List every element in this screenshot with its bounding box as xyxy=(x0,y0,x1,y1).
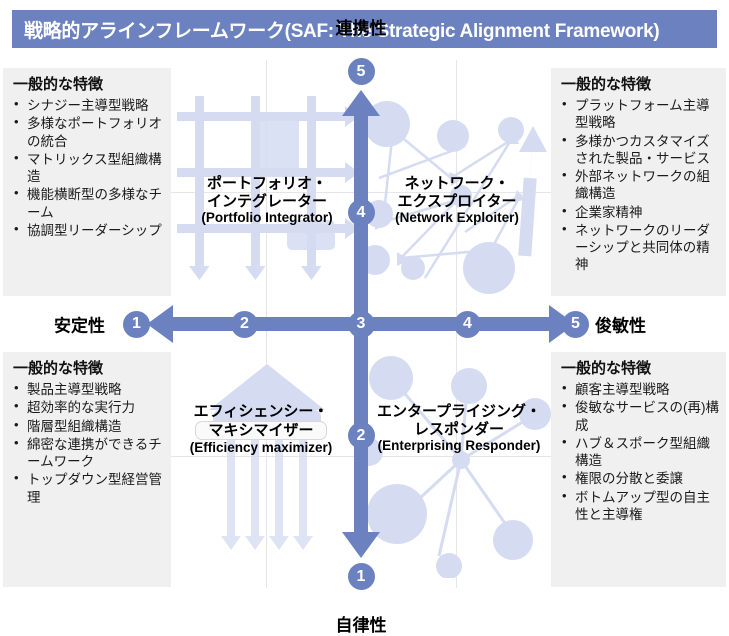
quadrant-en-name: (Network Exploiter) xyxy=(363,210,551,226)
list-item: 外部ネットワークの組織構造 xyxy=(559,168,720,203)
axis-label-right: 俊敏性 xyxy=(595,312,646,337)
list-item: 階層型組織構造 xyxy=(11,418,165,435)
list-item: 超効率的な実行力 xyxy=(11,399,165,416)
matrix-plot-area: 5 4 3 2 1 1 2 4 5 連携性 自律性 安定性 俊敏性 ポートフォリ… xyxy=(171,60,551,588)
list-item: ボトムアップ型の自主性と主導権 xyxy=(559,489,720,524)
scale-bullet-vertical-1: 1 xyxy=(348,563,375,590)
quadrant-jp-line1: エンタープライジング・ xyxy=(361,403,557,421)
list-item: シナジー主導型戦略 xyxy=(11,97,165,114)
axis-label-bottom: 自律性 xyxy=(336,611,387,636)
feature-panel-top-left: 一般的な特徴 シナジー主導型戦略 多様なポートフォリオの統合 マトリックス型組織… xyxy=(3,68,171,296)
feature-list: 顧客主導型戦略 俊敏なサービスの(再)構成 ハブ＆スポーク型組織構造 権限の分散… xyxy=(559,381,720,523)
feature-panel-title: 一般的な特徴 xyxy=(561,360,720,378)
arrow-left-icon xyxy=(147,305,173,343)
quadrant-jp-line2: エクスプロイター xyxy=(363,193,551,211)
arrow-down-icon xyxy=(342,532,380,558)
scale-bullet-horizontal-5: 5 xyxy=(562,311,589,338)
scale-bullet-vertical-5: 5 xyxy=(348,58,375,85)
axis-label-top: 連携性 xyxy=(336,14,387,39)
list-item: プラットフォーム主導型戦略 xyxy=(559,97,720,132)
feature-panel-title: 一般的な特徴 xyxy=(13,360,165,378)
quadrant-jp-line1: ポートフォリオ・ xyxy=(173,175,361,193)
quadrant-label-efficiency-maximizer: エフィシェンシー・ マキシマイザー (Efficiency maximizer) xyxy=(167,403,355,456)
feature-list: 製品主導型戦略 超効率的な実行力 階層型組織構造 綿密な連携ができるチームワーク… xyxy=(11,381,165,506)
scale-bullet-vertical-2: 2 xyxy=(348,422,375,449)
feature-panel-bottom-left: 一般的な特徴 製品主導型戦略 超効率的な実行力 階層型組織構造 綿密な連携ができ… xyxy=(3,352,171,587)
quadrant-en-name: (Enterprising Responder) xyxy=(361,438,557,454)
list-item: トップダウン型経営管理 xyxy=(11,471,165,506)
quadrant-label-enterprising-responder: エンタープライジング・ レスポンダー (Enterprising Respond… xyxy=(361,403,557,454)
feature-panel-bottom-right: 一般的な特徴 顧客主導型戦略 俊敏なサービスの(再)構成 ハブ＆スポーク型組織構… xyxy=(551,352,726,587)
hierarchy-pyramid-icon xyxy=(171,348,361,578)
quadrant-jp-line2: インテグレーター xyxy=(173,193,361,211)
feature-panel-title: 一般的な特徴 xyxy=(561,76,720,94)
list-item: ハブ＆スポーク型組織構造 xyxy=(559,435,720,470)
list-item: 顧客主導型戦略 xyxy=(559,381,720,398)
scale-bullet-horizontal-2: 2 xyxy=(231,311,258,338)
list-item: ネットワークのリーダーシップと共同体の精神 xyxy=(559,222,720,274)
scale-bullet-center-3: 3 xyxy=(348,311,375,338)
quadrant-jp-line1: エフィシェンシー・ xyxy=(167,403,355,421)
quadrant-label-portfolio-integrator: ポートフォリオ・ インテグレーター (Portfolio Integrator) xyxy=(173,175,361,226)
quadrant-en-name: (Efficiency maximizer) xyxy=(167,440,355,456)
saf-framework-diagram: 戦略的アラインフレームワーク(SAF: The Strategic Alignm… xyxy=(0,0,729,595)
quadrant-jp-line2: レスポンダー xyxy=(361,421,557,439)
list-item: 権限の分散と委譲 xyxy=(559,470,720,487)
quadrant-en-name: (Portfolio Integrator) xyxy=(173,210,361,226)
scale-bullet-horizontal-4: 4 xyxy=(454,311,481,338)
quadrant-jp-line2: マキシマイザー xyxy=(195,421,326,441)
quadrant-jp-line1: ネットワーク・ xyxy=(363,175,551,193)
hub-and-spoke-icon xyxy=(361,348,551,578)
arrow-up-icon xyxy=(342,90,380,116)
list-item: 多様かつカスタマイズされた製品・サービス xyxy=(559,133,720,168)
list-item: 俊敏なサービスの(再)構成 xyxy=(559,399,720,434)
list-item: 多様なポートフォリオの統合 xyxy=(11,115,165,150)
feature-list: プラットフォーム主導型戦略 多様かつカスタマイズされた製品・サービス 外部ネット… xyxy=(559,97,720,274)
quadrant-jp-line2-highlight: マキシマイザー xyxy=(167,421,355,441)
scale-bullet-vertical-4: 4 xyxy=(348,199,375,226)
feature-list: シナジー主導型戦略 多様なポートフォリオの統合 マトリックス型組織構造 機能横断… xyxy=(11,97,165,239)
scale-bullet-horizontal-1: 1 xyxy=(123,311,150,338)
axis-label-left: 安定性 xyxy=(54,312,105,337)
feature-panel-top-right: 一般的な特徴 プラットフォーム主導型戦略 多様かつカスタマイズされた製品・サービ… xyxy=(551,68,726,296)
list-item: 綿密な連携ができるチームワーク xyxy=(11,436,165,471)
list-item: 協調型リーダーシップ xyxy=(11,222,165,239)
list-item: マトリックス型組織構造 xyxy=(11,151,165,186)
feature-panel-title: 一般的な特徴 xyxy=(13,76,165,94)
list-item: 機能横断型の多様なチーム xyxy=(11,186,165,221)
list-item: 企業家精神 xyxy=(559,204,720,221)
quadrant-label-network-exploiter: ネットワーク・ エクスプロイター (Network Exploiter) xyxy=(363,175,551,226)
list-item: 製品主導型戦略 xyxy=(11,381,165,398)
